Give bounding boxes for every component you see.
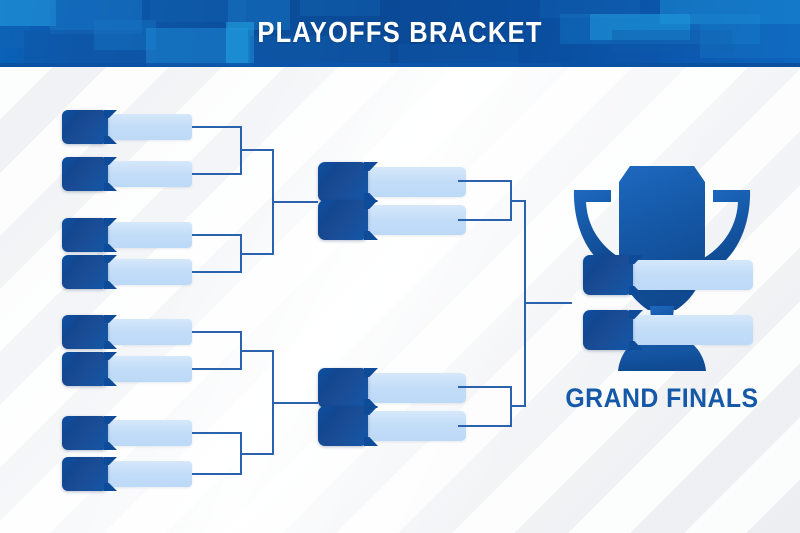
connector-finals-bottom-in <box>510 405 526 407</box>
seed-badge[interactable] <box>318 162 368 202</box>
slot-name-field[interactable] <box>96 114 192 140</box>
seed-badge[interactable] <box>318 200 368 240</box>
connector-r2-top-lower <box>458 219 512 221</box>
connector-r1-p4-top <box>192 432 242 434</box>
connector-r1-p4-bottom <box>192 473 242 475</box>
connector-r1-p1-out <box>240 149 274 151</box>
seed-badge[interactable] <box>318 406 368 446</box>
connector-r1-merge-top-out <box>272 201 318 203</box>
connector-r1-p3-top <box>192 331 242 333</box>
bracket-slot-r1-s2[interactable] <box>62 157 192 191</box>
connector-r1-p2-bottom <box>192 271 242 273</box>
connector-finals-top-in <box>510 200 526 202</box>
bracket-slot-r2-s2[interactable] <box>318 200 458 240</box>
slot-name-field[interactable] <box>356 167 466 197</box>
slot-name-field[interactable] <box>356 373 466 403</box>
bracket-slot-r1-s5[interactable] <box>62 315 192 349</box>
bracket-slot-r1-s4[interactable] <box>62 255 192 289</box>
slot-name-field[interactable] <box>356 205 466 235</box>
seed-badge[interactable] <box>62 416 108 450</box>
bracket-slot-r1-s7[interactable] <box>62 416 192 450</box>
seed-badge[interactable] <box>62 352 108 386</box>
bracket-slot-r2-s4[interactable] <box>318 406 458 446</box>
bracket-slot-r1-s1[interactable] <box>62 110 192 144</box>
connector-r1-p1-top <box>192 126 242 128</box>
seed-badge[interactable] <box>62 110 108 144</box>
connector-r2-top-upper <box>458 180 512 182</box>
slot-name-field[interactable] <box>621 315 753 345</box>
seed-badge[interactable] <box>62 457 108 491</box>
slot-name-field[interactable] <box>96 222 192 248</box>
seed-badge[interactable] <box>62 157 108 191</box>
seed-badge[interactable] <box>583 255 633 295</box>
connector-r1-p1-bottom <box>192 173 242 175</box>
bracket-slot-final-2[interactable] <box>583 310 753 350</box>
connector-r1-p3-bottom <box>192 368 242 370</box>
page-title: PLAYOFFS BRACKET <box>48 0 752 67</box>
connector-r1-merge-bottom-out <box>272 402 318 404</box>
connector-r2-bottom-lower <box>458 425 512 427</box>
grand-finals-label: GRAND FINALS <box>561 383 763 414</box>
seed-badge[interactable] <box>62 255 108 289</box>
bracket-slot-r2-s3[interactable] <box>318 368 458 408</box>
connector-r2-bottom-upper <box>458 386 512 388</box>
seed-badge[interactable] <box>62 218 108 252</box>
slot-name-field[interactable] <box>96 259 192 285</box>
bracket-slot-r2-s1[interactable] <box>318 162 458 202</box>
bracket-slot-final-1[interactable] <box>583 255 753 295</box>
seed-badge[interactable] <box>62 315 108 349</box>
slot-name-field[interactable] <box>96 420 192 446</box>
connector-r1-p2-out <box>240 253 274 255</box>
connector-r1-p2-top <box>192 234 242 236</box>
seed-badge[interactable] <box>583 310 633 350</box>
playoffs-bracket-poster: PLAYOFFS BRACKET <box>0 0 800 533</box>
bracket-slot-r1-s3[interactable] <box>62 218 192 252</box>
connector-r1-p3-out <box>240 350 274 352</box>
slot-name-field[interactable] <box>96 356 192 382</box>
slot-name-field[interactable] <box>356 411 466 441</box>
bracket-slot-r1-s6[interactable] <box>62 352 192 386</box>
slot-name-field[interactable] <box>621 260 753 290</box>
slot-name-field[interactable] <box>96 461 192 487</box>
bracket-slot-r1-s8[interactable] <box>62 457 192 491</box>
slot-name-field[interactable] <box>96 161 192 187</box>
seed-badge[interactable] <box>318 368 368 408</box>
connector-r1-p4-out <box>240 453 274 455</box>
slot-name-field[interactable] <box>96 319 192 345</box>
header-banner: PLAYOFFS BRACKET <box>0 0 800 67</box>
